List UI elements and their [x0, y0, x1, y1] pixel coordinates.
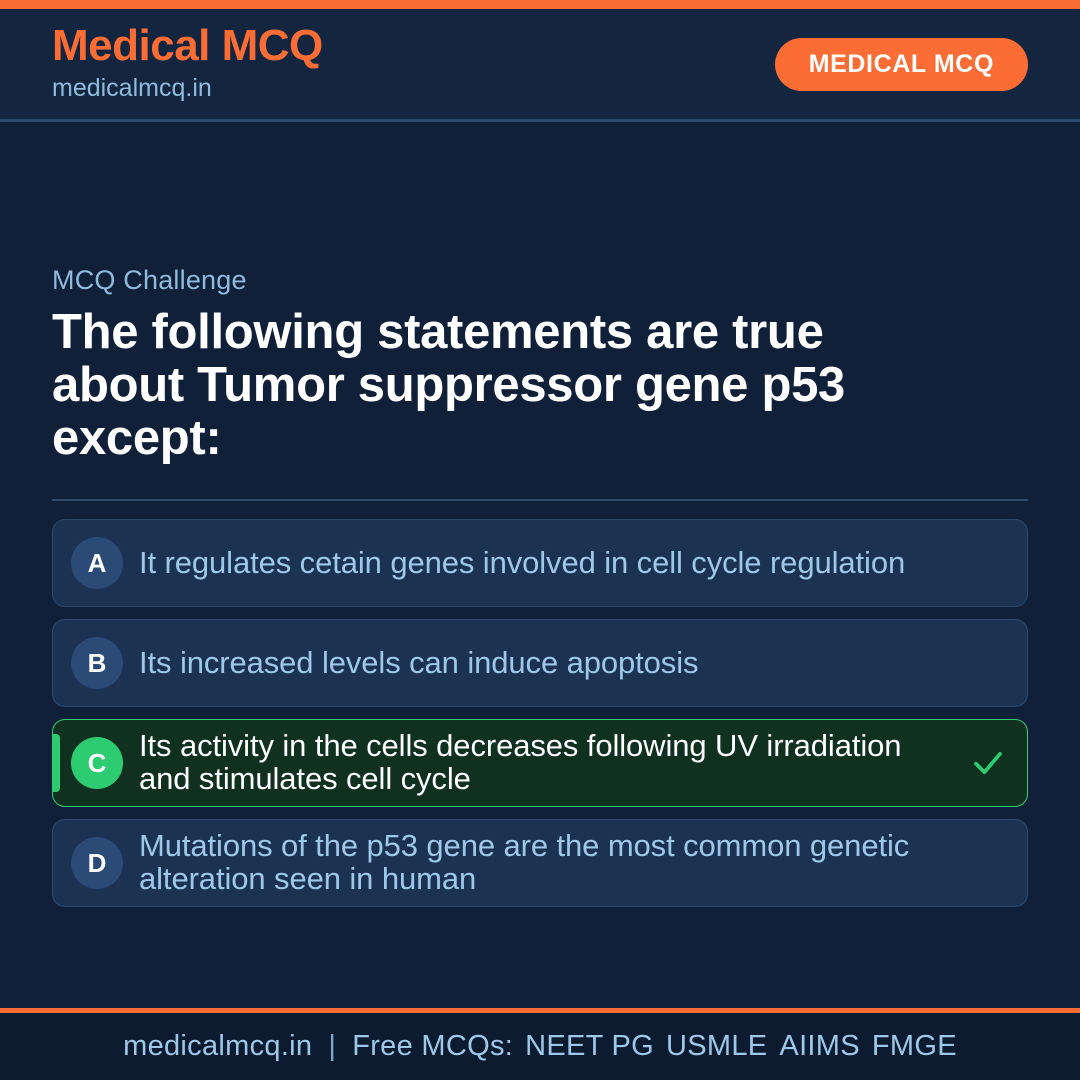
page-header: Medical MCQ medicalmcq.in MEDICAL MCQ	[0, 9, 1080, 122]
page-footer: medicalmcq.in|Free MCQs:NEET PGUSMLEAIIM…	[0, 1008, 1080, 1080]
option-letter-badge: D	[71, 837, 123, 889]
option-text: Mutations of the p53 gene are the most c…	[139, 830, 967, 896]
footer-site: medicalmcq.in	[123, 1030, 312, 1062]
option-text: Its increased levels can induce apoptosi…	[139, 647, 706, 680]
option-letter-badge: B	[71, 637, 123, 689]
top-accent-bar	[0, 0, 1080, 9]
footer-exam-fmge: FMGE	[860, 1030, 957, 1062]
brand-subtitle: medicalmcq.in	[52, 72, 323, 105]
check-icon	[971, 746, 1005, 780]
option-d[interactable]: D Mutations of the p53 gene are the most…	[52, 819, 1028, 907]
header-badge: MEDICAL MCQ	[775, 38, 1028, 91]
option-letter-badge: A	[71, 537, 123, 589]
correct-accent-bar	[53, 734, 60, 792]
footer-exam-usmle: USMLE	[654, 1030, 767, 1062]
question-eyebrow: MCQ Challenge	[52, 264, 1028, 296]
brand-title: Medical MCQ	[52, 23, 323, 69]
footer-exam-neetpg: NEET PG	[513, 1030, 654, 1062]
main-content: MCQ Challenge The following statements a…	[0, 122, 1080, 1008]
option-b[interactable]: B Its increased levels can induce apopto…	[52, 619, 1028, 707]
mcq-card: Medical MCQ medicalmcq.in MEDICAL MCQ MC…	[0, 0, 1080, 1080]
question-block: MCQ Challenge The following statements a…	[52, 264, 1028, 465]
option-letter-badge: C	[71, 737, 123, 789]
footer-exam-aiims: AIIMS	[767, 1030, 859, 1062]
footer-text: medicalmcq.in|Free MCQs:NEET PGUSMLEAIIM…	[123, 1030, 957, 1063]
option-c[interactable]: C Its activity in the cells decreases fo…	[52, 719, 1028, 807]
section-divider	[52, 499, 1028, 501]
options-list: A It regulates cetain genes involved in …	[52, 519, 1028, 907]
footer-exams-label: Free MCQs:	[352, 1030, 513, 1062]
option-a[interactable]: A It regulates cetain genes involved in …	[52, 519, 1028, 607]
brand-block: Medical MCQ medicalmcq.in	[52, 23, 323, 105]
option-text: Its activity in the cells decreases foll…	[139, 730, 967, 796]
page-title: The following statements are true about …	[52, 306, 922, 465]
footer-separator: |	[312, 1030, 352, 1062]
option-text: It regulates cetain genes involved in ce…	[139, 547, 913, 580]
